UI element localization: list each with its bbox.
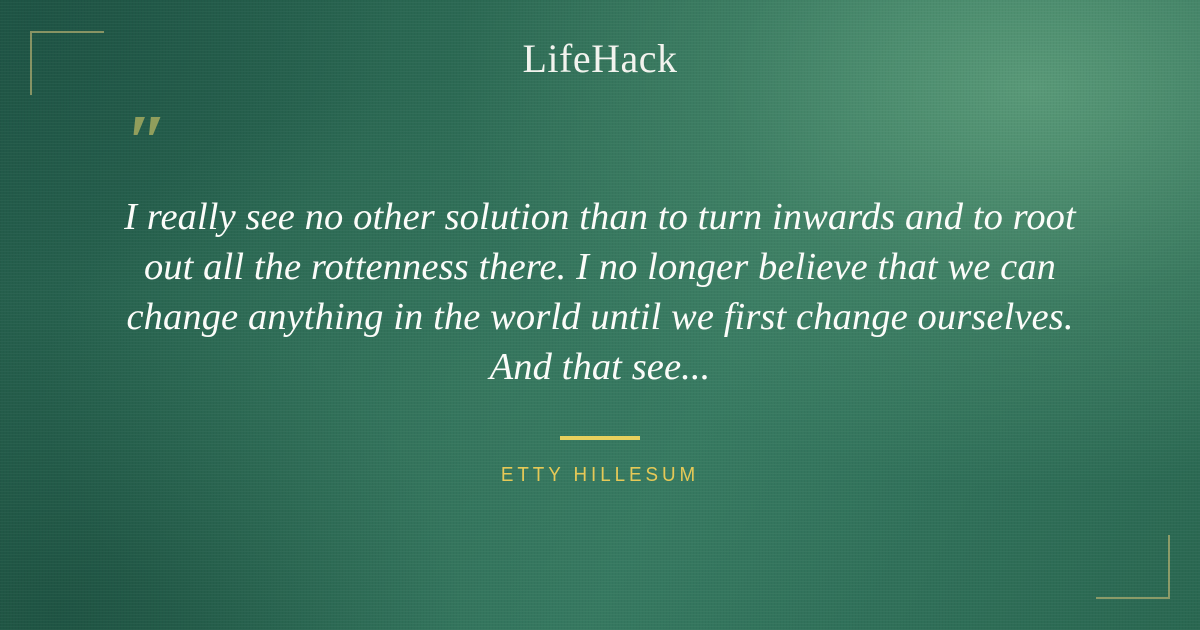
quote-container: I really see no other solution than to t… (100, 192, 1100, 392)
quote-author: ETTY HILLESUM (36, 464, 1164, 487)
brand-logo: LifeHack (0, 37, 1200, 81)
quote-card: LifeHack ″ I really see no other solutio… (0, 0, 1200, 630)
corner-bracket-bottom-right-icon (1096, 535, 1170, 599)
quotation-mark-icon: ″ (126, 104, 168, 180)
quote-text: I really see no other solution than to t… (100, 192, 1100, 392)
divider-rule (560, 436, 640, 440)
